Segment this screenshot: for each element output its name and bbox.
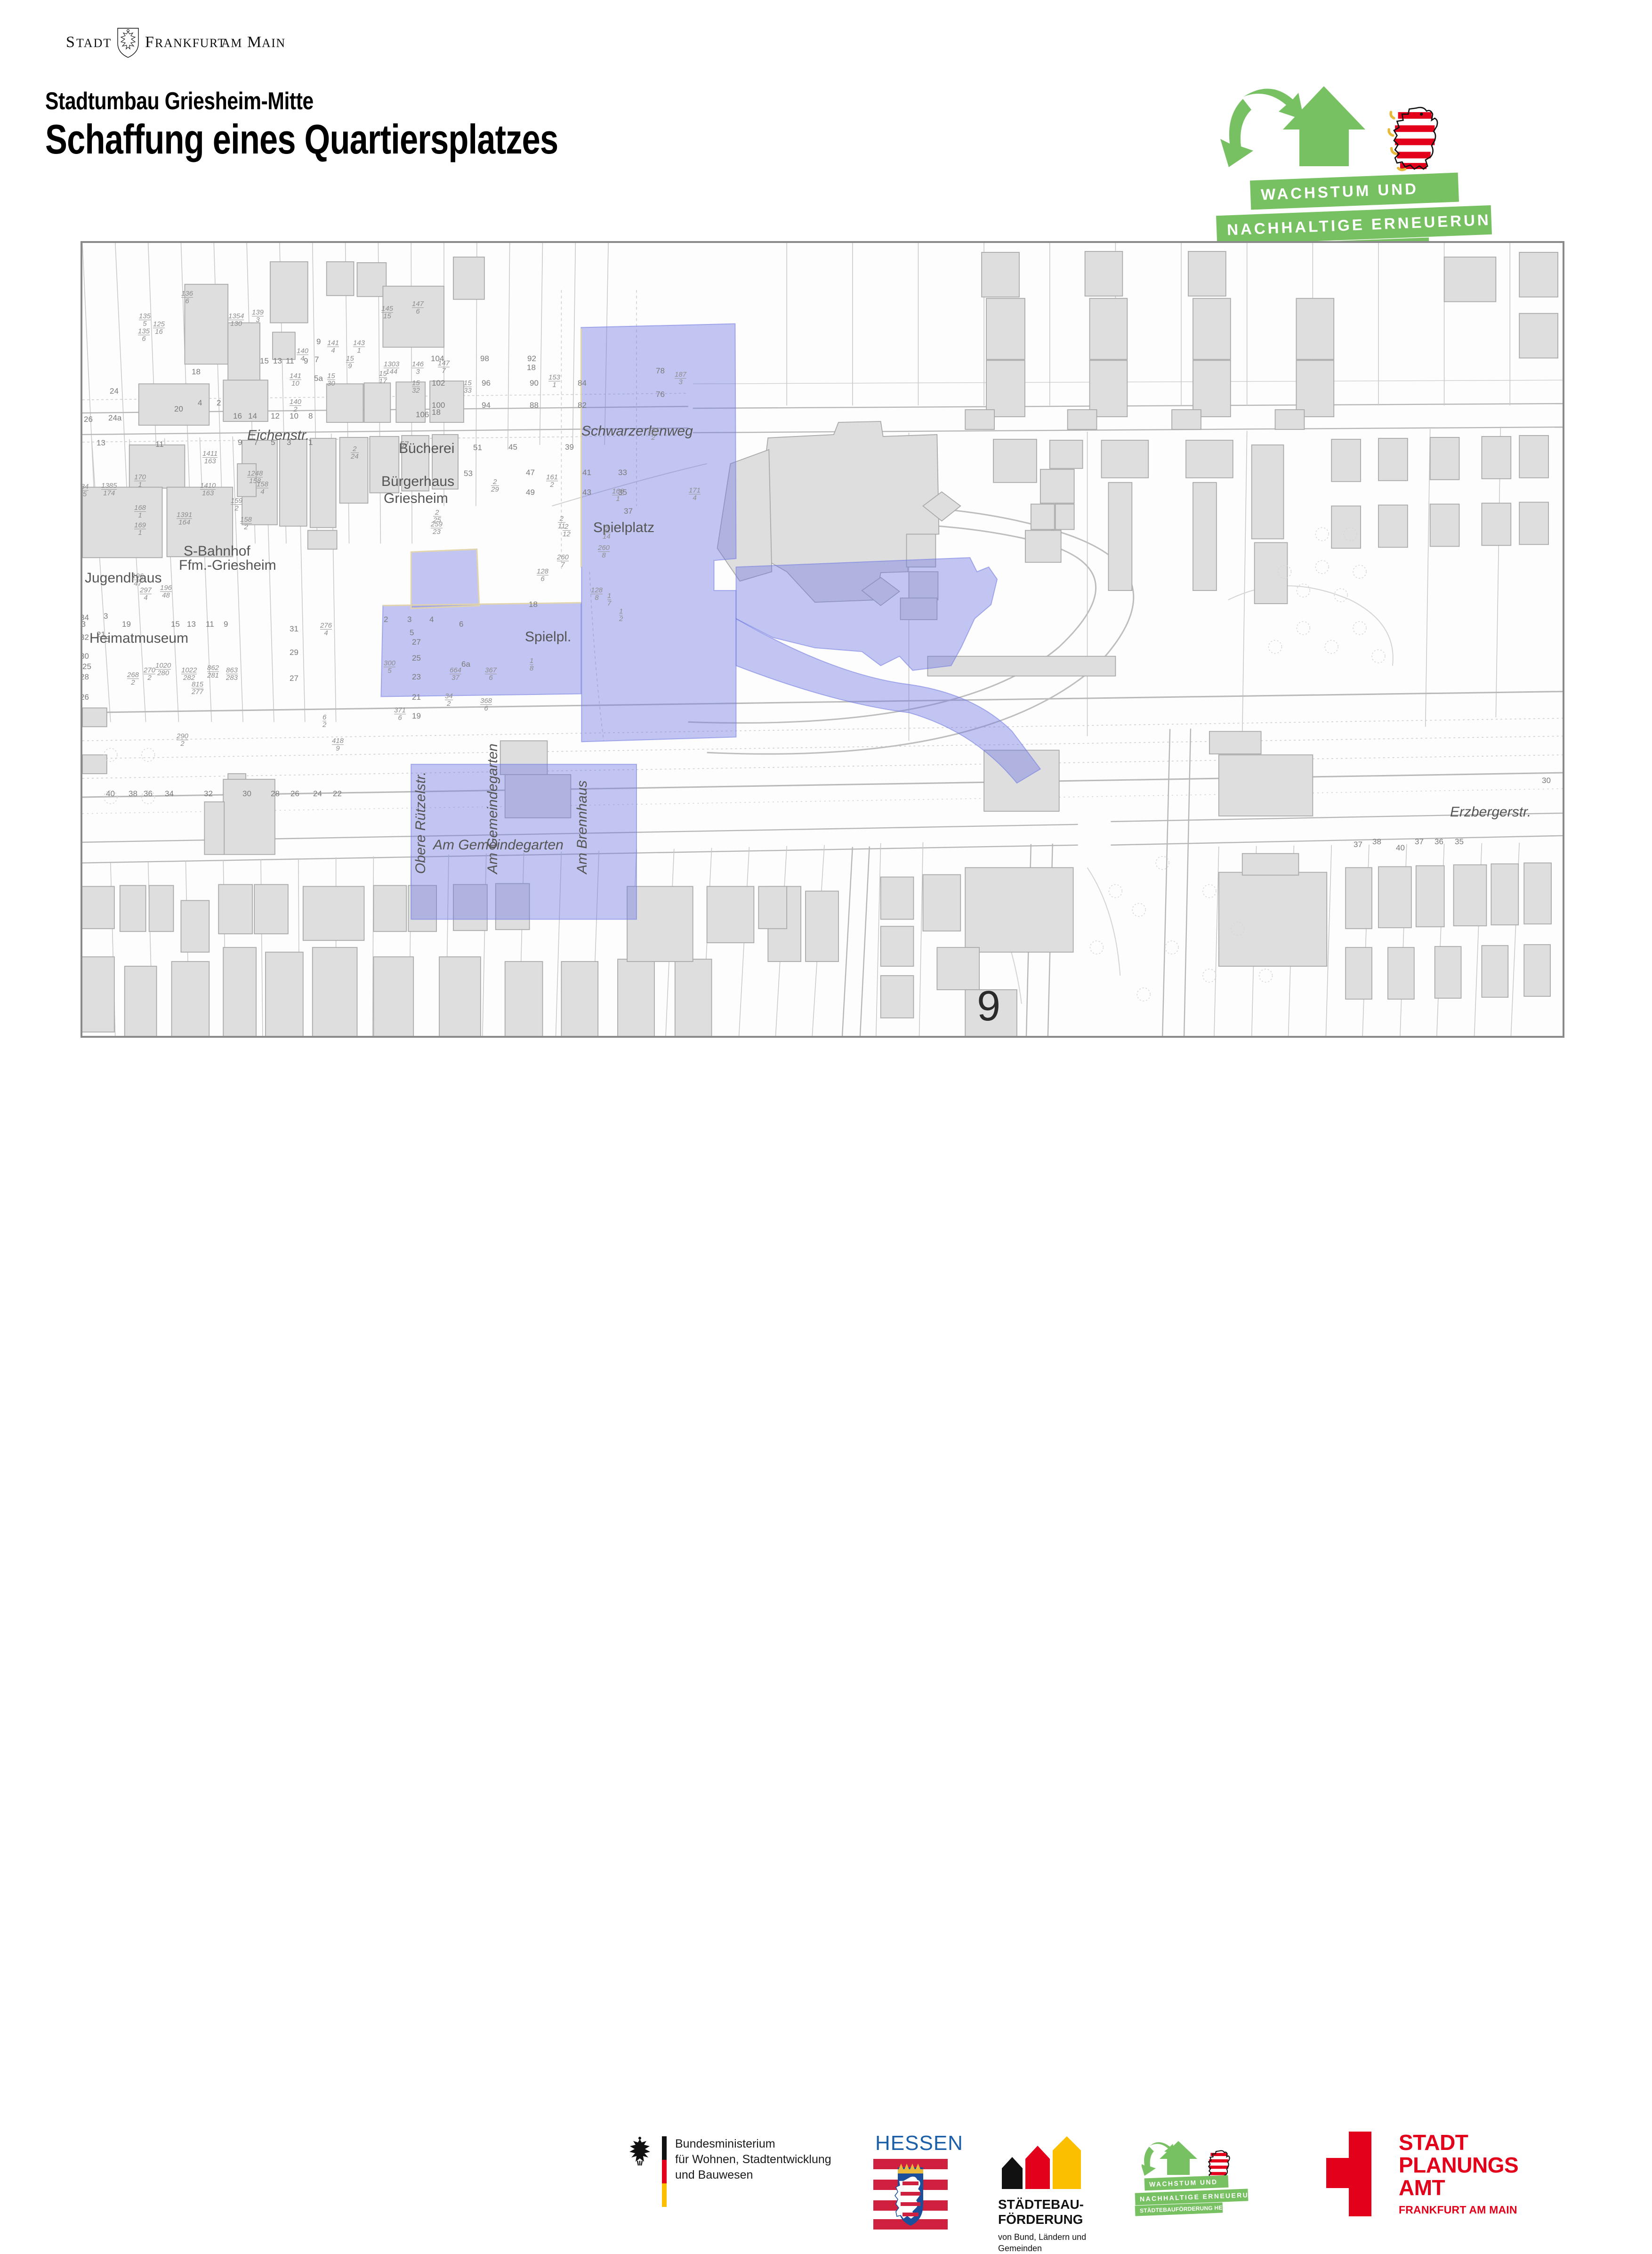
svg-text:F: F [145,33,154,51]
map-parcel-number: 2902 [177,733,188,747]
map-house-number: 21 [97,630,105,639]
map-house-number: 34 [81,613,89,622]
map-house-number: 57 [400,440,409,449]
map-house-number: 24a [108,413,121,423]
spa-sub: FRANKFURT AM MAIN [1399,2204,1518,2216]
map-house-number: 34 [165,789,174,799]
map-house-number: 5 [410,628,414,638]
map-house-number: 22 [333,789,342,799]
hessen-label: HESSEN [875,2132,963,2155]
map-house-number: 3 [287,438,291,447]
map-house-number: 37 [624,507,633,516]
map-parcel-number: 1410163 [200,482,216,497]
map-house-number: 5a [314,374,323,383]
map-parcel-number: 1812 [647,427,659,441]
footer-logos: Bundesministerium für Wohnen, Stadtentwi… [0,1062,1652,1168]
map-house-number: 76 [656,390,665,399]
map-house-number: 38 [1372,837,1381,847]
map-house-number: 18 [527,363,536,372]
map-parcel-number: 18 [530,657,533,672]
map-house-number: 92 [527,354,536,364]
map-house-number: 9 [316,337,321,347]
map-parcel-number: 1612 [546,474,558,488]
map-house-number: 4 [429,615,434,624]
map-house-number: 11 [286,356,294,366]
page-title: Schaffung eines Quartiersplatzes [45,115,558,163]
map-parcel-number: 1391164 [177,511,192,526]
bmwsb-logo: Bundesministerium für Wohnen, Stadtentwi… [626,2136,831,2207]
map-house-number: 2 [217,398,221,408]
map-parcel-number: 1476 [412,300,424,315]
map-house-number: 30 [81,652,89,661]
map-house-number: 19 [122,620,131,629]
svg-text:AIN: AIN [262,36,286,50]
map-house-number: 15 [171,620,180,629]
map-parcel-number: 14515 [381,305,393,320]
map-house-number: 28 [271,789,280,799]
cadastral-map[interactable]: 9 Eichenstr.SchwarzerlenwegErzbergerstr.… [81,241,1564,1038]
map-parcel-number: 3005 [384,660,395,674]
bundesadler-icon [626,2136,653,2166]
bmwsb-line2: für Wohnen, Stadtentwicklung [675,2152,831,2167]
map-parcel-number: 1022282 [181,667,197,681]
map-parcel-number: 1517 [379,370,387,385]
map-parcel-number: 2607 [557,554,569,568]
map-parcel-number: 19647 [132,573,144,587]
map-parcel-number: 2764 [320,622,332,637]
map-house-number: 30 [242,789,251,799]
map-house-number: 9 [224,620,228,629]
map-house-number: 28 [81,672,89,682]
spa-line3: AMT [1399,2177,1518,2199]
map-house-number: 18 [192,367,201,377]
hessen-coat-of-arms [873,2159,948,2230]
map-house-number: 78 [656,366,665,376]
stadtplanungsamt-mark [1316,2132,1383,2216]
staedtebau-sub2: Gemeinden [998,2243,1086,2254]
map-house-number: 40 [1396,843,1405,853]
svg-text:M: M [247,33,261,51]
svg-text:RANKFURT: RANKFURT [155,36,226,50]
map-house-number: 98 [480,354,489,364]
map-parcel-number: 1356 [138,328,150,342]
map-house-number: 32 [81,633,89,642]
map-house-number: 49 [526,488,535,497]
map-house-number: 37 [1354,840,1362,849]
map-house-number: 102 [432,379,445,388]
map-house-number: 5 [271,438,275,447]
map-house-number: 13 [187,620,196,629]
map-house-number: 25 [412,654,421,663]
three-houses-icon [998,2136,1083,2189]
map-parcel-number: 1286 [537,568,548,582]
staedtebaufoerderung-logo: STÄDTEBAU- FÖRDERUNG von Bund, Ländern u… [998,2136,1086,2254]
map-house-number: 6 [459,620,463,629]
map-house-number: 26 [290,789,299,799]
map-parcel-number: 1393 [252,309,264,323]
map-parcel-number: 1584 [257,481,268,495]
map-house-number: 4 [198,398,202,408]
map-house-number: 14 [248,412,257,421]
map-house-number: 5 [105,635,109,644]
map-parcel-number: 1477 [438,360,450,374]
map-parcel-number: 19648 [160,584,172,599]
map-house-number: 6a [461,660,470,669]
map-place-label: Spielpl. [525,629,571,645]
svg-text:TADT: TADT [76,36,112,50]
map-street-label: Obere Rützelstr. [413,772,429,874]
map-house-number: 24 [313,789,322,799]
map-house-number: 29 [290,648,298,657]
map-house-number: 39 [565,443,574,452]
map-house-number: 31 [290,624,298,634]
map-house-number: 16 [233,412,242,421]
map-house-number: 27 [412,638,421,647]
map-place-label: S-Bahnhof [184,543,250,559]
map-parcel-number: 224 [351,445,359,460]
map-house-number: 3 [407,615,411,624]
spa-line1: STADT [1399,2132,1518,2154]
map-parcel-number: 342 [445,693,453,707]
map-parcel-number: 1404 [297,347,308,362]
map-house-number: 43 [582,488,591,497]
map-parcel-number: 1366 [181,290,193,305]
map-house-number: 19 [412,711,421,721]
map-house-number: 35 [1455,837,1464,847]
map-parcel-number: 1661 [612,488,624,502]
map-parcel-number: 2974 [140,587,152,601]
map-parcel-number: 4189 [332,737,344,752]
map-house-number: 100 [432,401,445,410]
map-parcel-number: 1714 [689,487,701,501]
map-parcel-number: 229 [491,478,499,493]
map-parcel-number: 1020280 [155,662,171,677]
svg-text:9: 9 [977,983,1000,1030]
map-parcel-number: 1681 [134,504,146,519]
map-house-number: 21 [412,693,421,702]
map-parcel-number: 1355 [139,313,151,327]
bmwsb-line1: Bundesministerium [675,2136,831,2152]
map-house-number: 23 [412,672,421,682]
map-parcel-number: 2608 [598,544,610,559]
map-house-number: 88 [530,401,539,410]
map-parcel-number: 3716 [394,707,406,721]
map-house-number: 26 [84,415,93,424]
map-house-number: 51 [473,443,482,452]
map-parcel-number: 1463 [412,361,424,375]
map-house-number: 96 [482,379,491,388]
map-house-number: 106 [416,410,429,420]
map-house-number: 15 [260,356,269,366]
map-place-label: Griesheim [384,491,448,507]
map-parcel-number: 1691 [134,522,146,536]
map-parcel-number: 1582 [240,516,252,531]
map-place-label: Jugendhaus [85,570,161,586]
map-house-number: 30 [1542,776,1551,785]
map-house-number: 24 [110,387,119,396]
map-house-number: 13 [273,356,282,366]
map-parcel-number: 1414 [327,339,339,354]
map-parcel-number: 1402 [290,398,301,413]
map-parcel-number: 862281 [207,664,219,679]
map-parcel-number: 214 [603,525,611,540]
map-parcel-number: 1411163 [202,450,218,465]
staedtebau-line1: STÄDTEBAU- [998,2197,1086,2212]
hessen-logo: HESSEN [873,2132,963,2232]
city-logo: S TADT F RANKFURT AM M AIN [66,24,367,57]
map-house-number: 90 [530,379,539,388]
map-house-number: 13 [97,438,105,448]
map-parcel-number: 12516 [153,321,165,335]
map-house-number: 26 [81,693,89,702]
map-house-number: 2 [384,615,388,624]
map-parcel-number: 66437 [450,667,461,681]
map-parcel-number: 14110 [290,372,301,387]
map-parcel-number: 1354130 [228,313,244,327]
bmwsb-line3: und Bauwesen [675,2167,831,2183]
map-parcel-number: 159 [346,355,354,370]
map-house-number: 9 [238,438,242,447]
map-place-label: Bürgerhaus [381,474,454,490]
map-parcel-number: 815277 [192,681,203,695]
map-house-number: 20 [174,404,183,414]
map-house-number: 40 [106,789,115,799]
map-house-number: 27 [290,674,298,683]
map-house-number: 37 [1415,837,1424,847]
map-house-number: 82 [578,401,587,410]
map-house-number: 11 [206,620,214,629]
map-house-number: 3 [104,612,108,621]
map-parcel-number: 1533 [464,380,472,394]
map-house-number: 84 [578,379,587,388]
map-parcel-number: 17 [607,592,611,607]
map-place-label: Ffm.-Griesheim [179,557,276,574]
map-parcel-number: 3676 [485,667,497,681]
map-house-number: 36 [144,789,153,799]
map-parcel-number: 863283 [226,667,238,681]
map-parcel-number: 1384175 [81,483,89,498]
map-house-number: 45 [508,443,517,452]
map-house-number: 41 [582,468,591,477]
programme-logo-small: WACHSTUM UND NACHHALTIGE ERNEUERUNG STÄD… [1142,2141,1292,2212]
map-parcel-number: 1532 [412,380,420,394]
map-house-number: 25 [82,662,91,671]
map-house-number: 33 [618,468,627,477]
map-house-number: 36 [1434,837,1443,847]
map-parcel-number: 2702 [144,667,155,681]
map-house-number: 38 [129,789,137,799]
map-parcel-number: 1873 [675,371,686,386]
map-street-label: Erzbergerstr. [1450,804,1531,820]
stadtplanungsamt-logo: STADT PLANUNGS AMT FRANKFURT AM MAIN [1316,2132,1518,2216]
map-house-number: 7 [254,438,258,447]
map-parcel-number: 1431 [353,339,365,354]
map-parcel-number: 212 [563,523,571,538]
map-house-number: 47 [526,468,535,477]
map-house-number: 1 [308,438,313,447]
map-parcel-number: 1701 [134,474,146,488]
map-parcel-number: 1530 [327,372,335,387]
project-subtitle: Stadtumbau Griesheim-Mitte [45,87,314,115]
svg-text:AM: AM [221,36,242,50]
spa-line2: PLANUNGS [1399,2154,1518,2177]
map-house-number: 8 [308,412,313,421]
map-parcel-number: 1385174 [101,482,117,497]
svg-text:S: S [66,33,76,51]
map-parcel-number: 25923 [431,521,443,535]
map-house-number: 18 [529,600,538,609]
map-house-number: 32 [204,789,213,799]
map-parcel-number: 2682 [127,671,139,686]
map-parcel-number: 1592 [231,497,242,512]
map-house-number: 53 [464,469,473,478]
map-house-number: 11 [155,440,164,449]
map-parcel-number: 12 [619,608,623,622]
staedtebau-line2: FÖRDERUNG [998,2212,1086,2227]
map-parcel-number: 62 [322,714,326,728]
map-street-label: Am Brennhaus [574,781,590,874]
map-house-number: 12 [271,412,280,421]
map-street-label: Schwarzerlenweg [581,423,693,439]
map-parcel-number: 1288 [591,587,603,601]
staedtebau-sub1: von Bund, Ländern und [998,2232,1086,2243]
map-parcel-number: 3686 [480,697,492,712]
map-parcel-number: 1531 [548,374,560,388]
map-street-label: Am Gemeindegarten [485,743,501,874]
map-house-number: 94 [482,401,491,410]
map-house-number: 7 [314,355,319,364]
